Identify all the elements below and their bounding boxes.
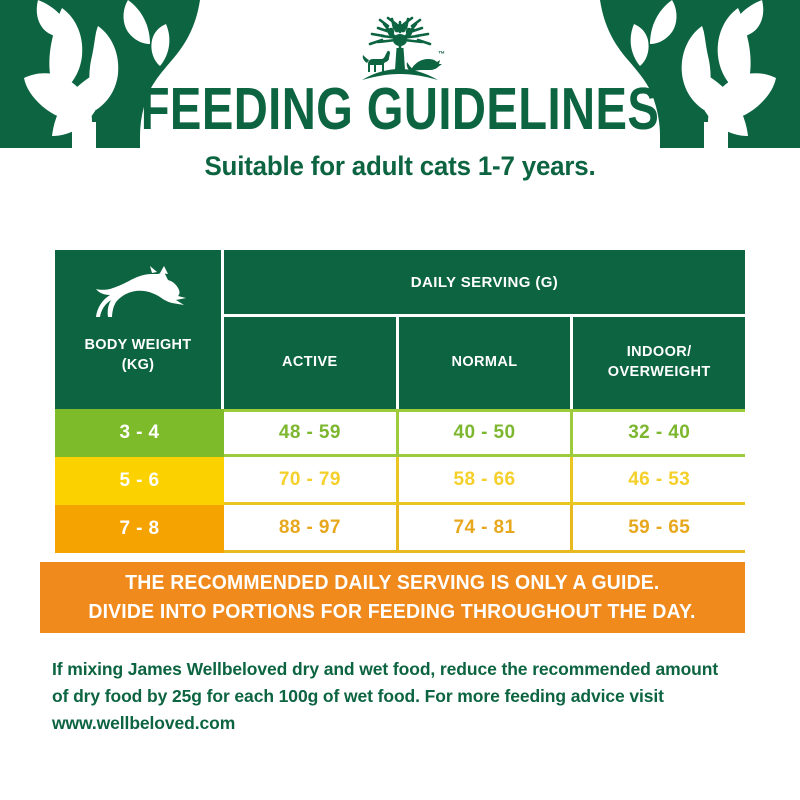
column-header-indoor-overweight: INDOOR/ OVERWEIGHT [573, 317, 745, 409]
guide-notice-banner: THE RECOMMENDED DAILY SERVING IS ONLY A … [40, 562, 745, 633]
cell-indoor-2: 59 - 65 [573, 505, 745, 550]
leaping-cat-icon [90, 266, 186, 322]
row-values-1: 70 - 79 58 - 66 46 - 53 [224, 457, 745, 505]
cell-normal-0: 40 - 50 [399, 412, 574, 454]
footer-website: www.wellbeloved.com [52, 710, 752, 737]
row-weight-1: 5 - 6 [55, 457, 224, 505]
svg-text:™: ™ [438, 51, 445, 58]
table-header: BODY WEIGHT (KG) DAILY SERVING (G) ACTIV… [55, 250, 745, 409]
body-weight-header-label: BODY WEIGHT (KG) [85, 336, 192, 375]
banner-line-1: THE RECOMMENDED DAILY SERVING IS ONLY A … [125, 569, 659, 597]
row-values-0: 48 - 59 40 - 50 32 - 40 [224, 409, 745, 457]
column-headers-row: ACTIVE NORMAL INDOOR/ OVERWEIGHT [224, 317, 745, 409]
cell-indoor-0: 32 - 40 [573, 412, 745, 454]
row-weight-0: 3 - 4 [55, 409, 224, 457]
page-subtitle: Suitable for adult cats 1-7 years. [16, 153, 784, 180]
feeding-guidelines-table: BODY WEIGHT (KG) DAILY SERVING (G) ACTIV… [55, 250, 745, 553]
table-row: 7 - 8 88 - 97 74 - 81 59 - 65 [55, 505, 745, 553]
cell-active-1: 70 - 79 [224, 457, 399, 502]
body-weight-header-cell: BODY WEIGHT (KG) [55, 250, 224, 409]
row-values-2: 88 - 97 74 - 81 59 - 65 [224, 505, 745, 553]
cell-normal-1: 58 - 66 [399, 457, 574, 502]
cell-active-0: 48 - 59 [224, 412, 399, 454]
row-weight-2: 7 - 8 [55, 505, 224, 553]
cell-active-2: 88 - 97 [224, 505, 399, 550]
banner-line-2: DIVIDE INTO PORTIONS FOR FEEDING THROUGH… [89, 598, 696, 626]
cell-normal-2: 74 - 81 [399, 505, 574, 550]
footer-note: If mixing James Wellbeloved dry and wet … [52, 656, 752, 737]
column-header-active: ACTIVE [224, 317, 399, 409]
daily-serving-header: DAILY SERVING (G) [224, 250, 745, 317]
cell-indoor-1: 46 - 53 [573, 457, 745, 502]
footer-line-2: of dry food by 25g for each 100g of wet … [52, 683, 752, 710]
page-title: FEEDING GUIDELINES [80, 80, 720, 139]
footer-line-1: If mixing James Wellbeloved dry and wet … [52, 656, 752, 683]
daily-serving-header-group: DAILY SERVING (G) ACTIVE NORMAL INDOOR/ … [224, 250, 745, 409]
table-row: 5 - 6 70 - 79 58 - 66 46 - 53 [55, 457, 745, 505]
table-row: 3 - 4 48 - 59 40 - 50 32 - 40 [55, 409, 745, 457]
column-header-normal: NORMAL [399, 317, 574, 409]
